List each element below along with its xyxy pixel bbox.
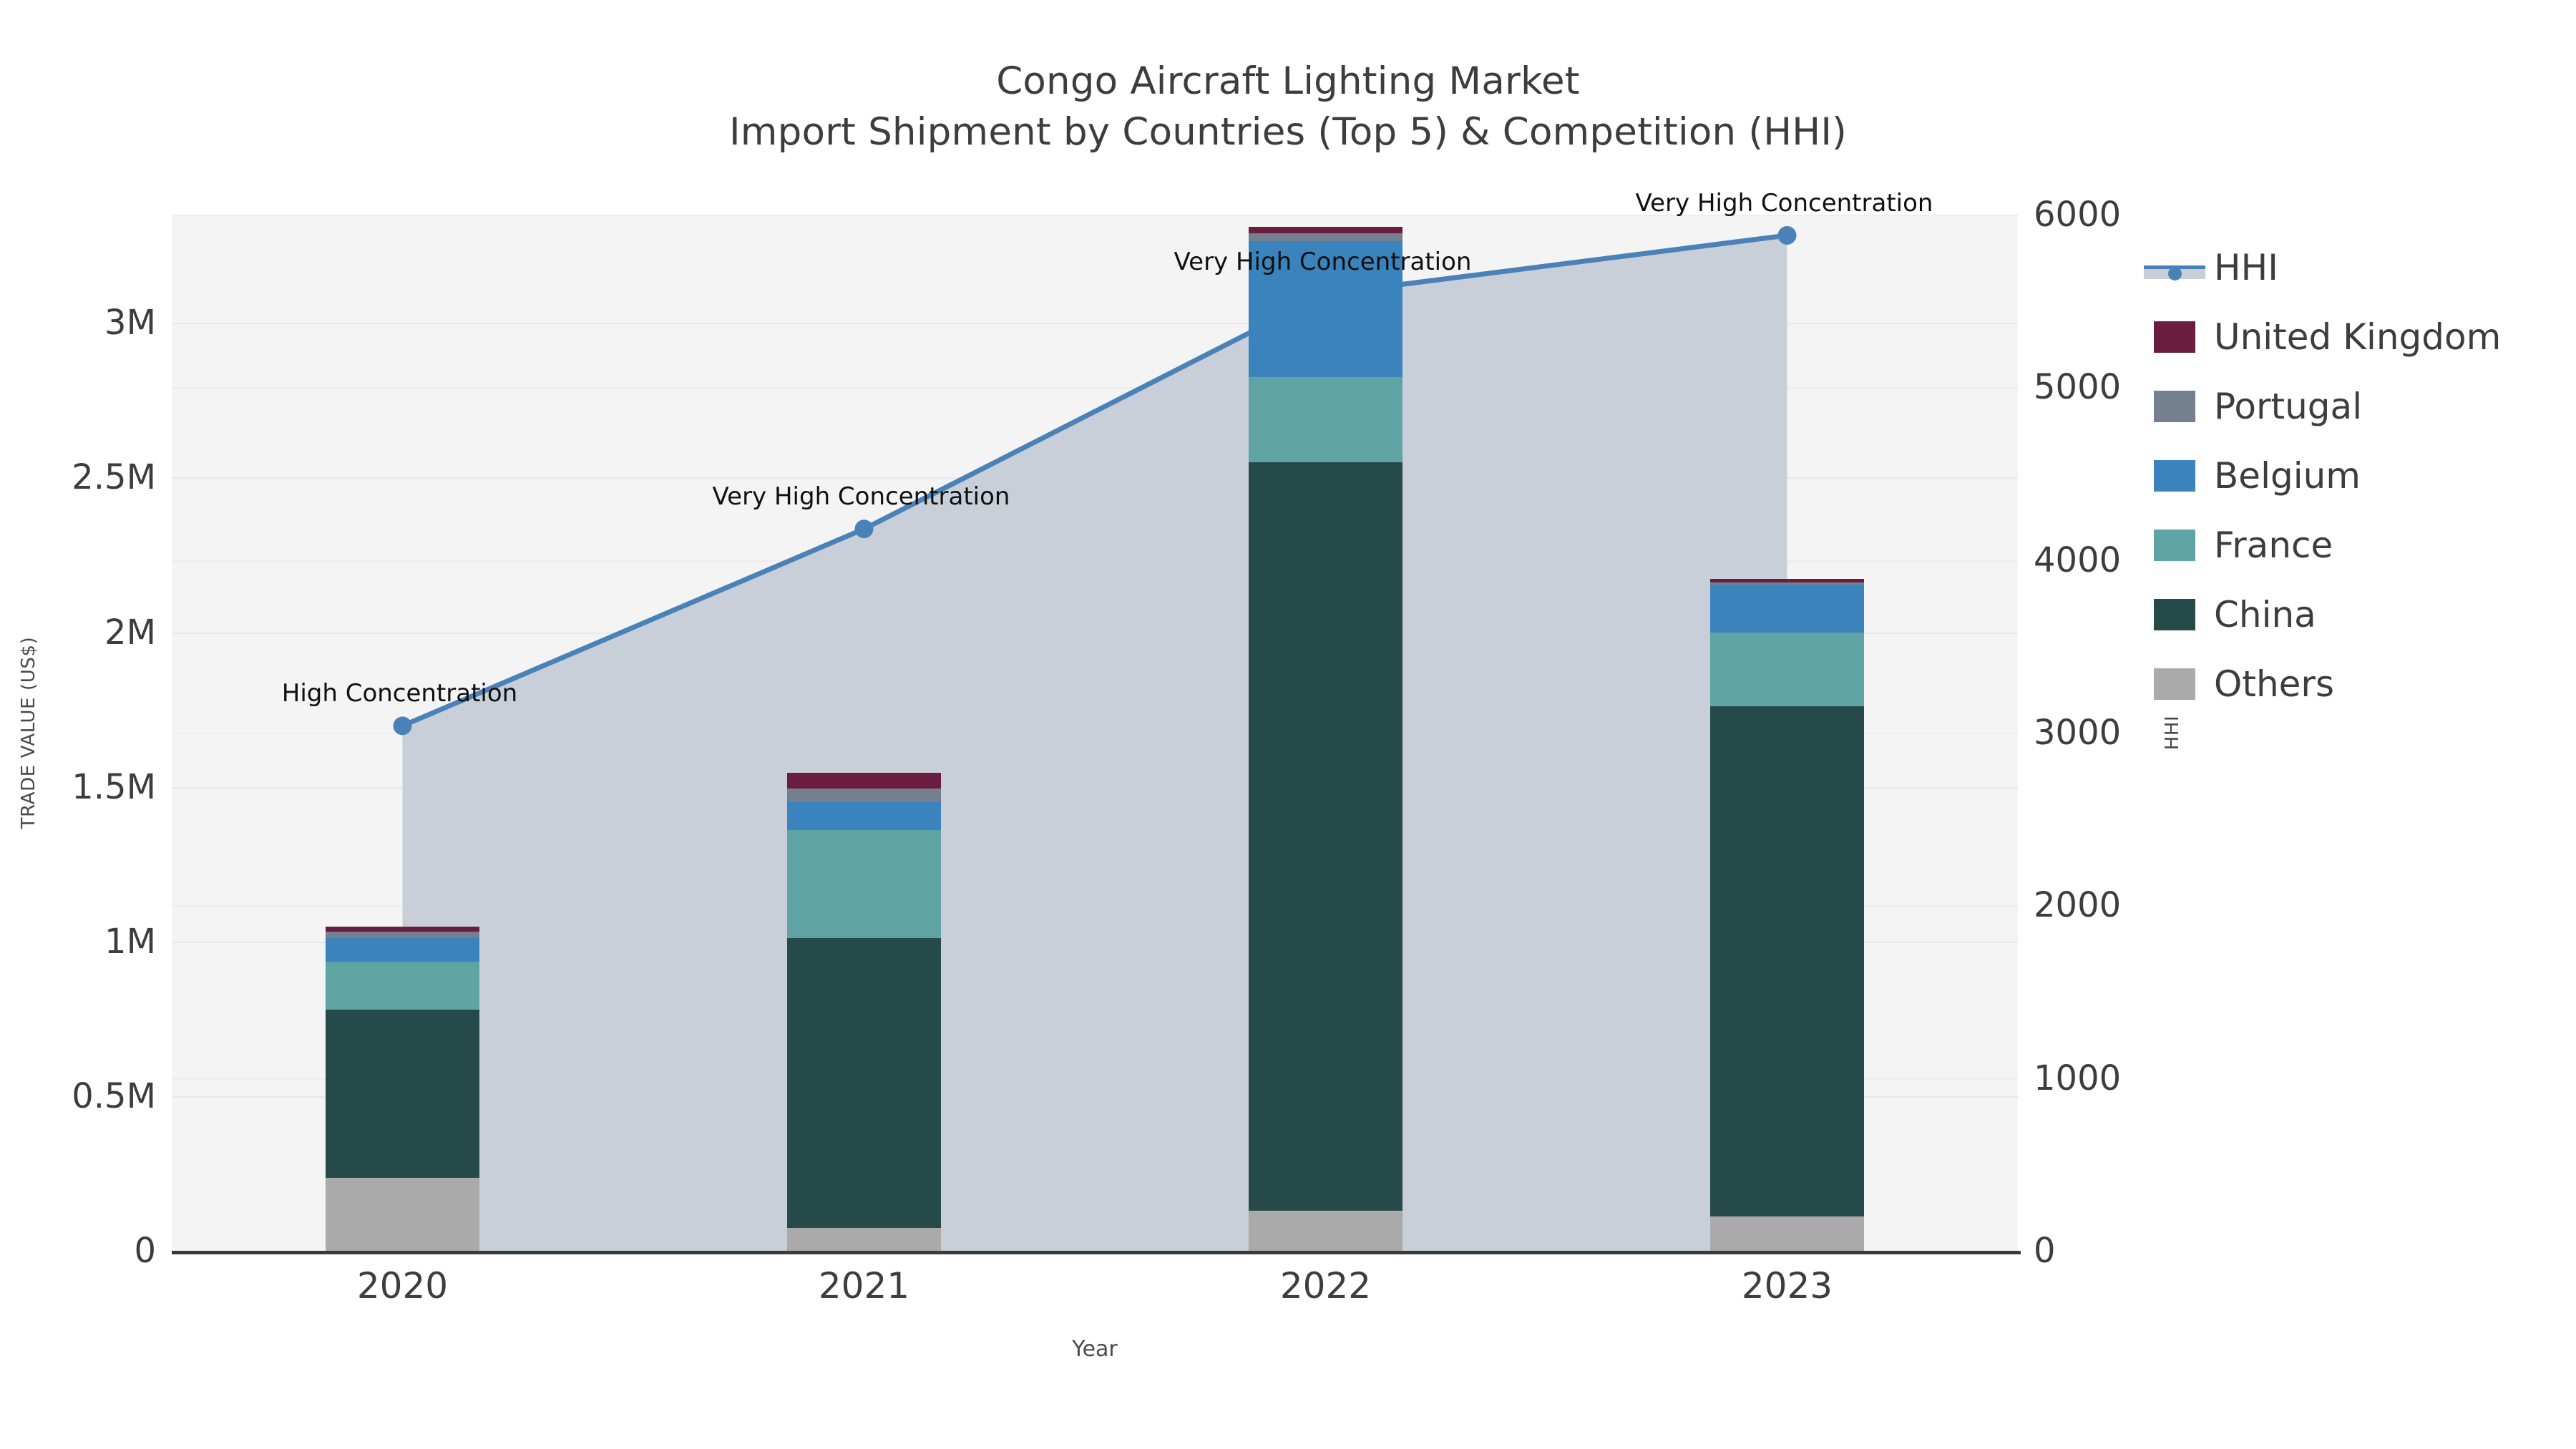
y-tick-left-5: 2.5M: [72, 457, 156, 497]
bar-segment-2020-china[interactable]: [326, 1010, 479, 1179]
x-tick-2023: 2023: [1742, 1265, 1833, 1307]
bar-segment-2022-others[interactable]: [1249, 1211, 1402, 1251]
y-tick-right-5: 5000: [2034, 367, 2121, 407]
plot-inner: [172, 215, 2018, 1251]
y-tick-left-2: 1M: [104, 922, 156, 962]
x-tick-2020: 2020: [357, 1265, 448, 1307]
title-line-2: Import Shipment by Countries (Top 5) & C…: [0, 107, 2576, 157]
y-tick-left-6: 3M: [104, 303, 156, 343]
bar-2021[interactable]: [787, 773, 941, 1251]
legend-item-china[interactable]: China: [2154, 580, 2576, 649]
annotation-2022: Very High Concentration: [1174, 248, 1472, 276]
chart-container: Congo Aircraft Lighting Market Import Sh…: [0, 0, 2576, 1449]
title-line-1: Congo Aircraft Lighting Market: [0, 56, 2576, 107]
y-tick-right-3: 3000: [2034, 713, 2121, 753]
legend-swatch-france: [2154, 530, 2195, 561]
bar-2022[interactable]: [1249, 227, 1402, 1251]
legend-label: France: [2214, 525, 2333, 566]
legend-item-united-kingdom[interactable]: United Kingdom: [2154, 302, 2576, 371]
legend-item-france[interactable]: France: [2154, 510, 2576, 580]
hhi-markers: [394, 226, 1797, 735]
legend-label: Portugal: [2214, 386, 2362, 427]
x-tick-2022: 2022: [1280, 1265, 1371, 1307]
bar-segment-2022-portugal[interactable]: [1249, 233, 1402, 241]
bar-segment-2020-others[interactable]: [326, 1178, 479, 1251]
bar-segment-2023-belgium[interactable]: [1710, 585, 1864, 633]
y-tick-left-1: 0.5M: [72, 1076, 156, 1116]
legend-label: China: [2214, 594, 2316, 635]
gridline-left-5: [172, 477, 2018, 479]
x-axis-label: Year: [1072, 1337, 1118, 1362]
y-tick-right-4: 4000: [2034, 540, 2121, 580]
bar-segment-2023-china[interactable]: [1710, 706, 1864, 1216]
bar-segment-2023-united-kingdom[interactable]: [1710, 579, 1864, 582]
y-tick-left-3: 1.5M: [72, 767, 156, 807]
bar-segment-2021-portugal[interactable]: [787, 789, 941, 802]
bar-segment-2021-united-kingdom[interactable]: [787, 773, 941, 789]
x-tick-2021: 2021: [819, 1265, 909, 1307]
bar-2023[interactable]: [1710, 579, 1864, 1251]
y-tick-right-1: 1000: [2034, 1058, 2121, 1098]
bar-segment-2023-france[interactable]: [1710, 633, 1864, 707]
legend-swatch-portugal: [2154, 391, 2195, 422]
y-axis-left-label: TRADE VALUE (US$): [18, 637, 39, 829]
legend-swatch-china: [2154, 599, 2195, 630]
bar-segment-2021-france[interactable]: [787, 830, 941, 938]
bar-segment-2023-others[interactable]: [1710, 1216, 1864, 1251]
legend-label: HHI: [2214, 247, 2278, 288]
annotation-2020: High Concentration: [282, 679, 517, 708]
y-axis-right-label: HHI: [2162, 716, 2183, 751]
bar-segment-2020-united-kingdom[interactable]: [326, 927, 479, 931]
y-tick-left-0: 0: [134, 1231, 156, 1271]
legend-item-portugal[interactable]: Portugal: [2154, 371, 2576, 441]
legend-label: Others: [2214, 663, 2334, 705]
gridline-right-5: [172, 387, 2018, 389]
chart-title: Congo Aircraft Lighting Market Import Sh…: [0, 56, 2576, 157]
legend-line-dot: [2168, 267, 2182, 280]
bar-segment-2022-china[interactable]: [1249, 462, 1402, 1211]
bar-segment-2020-belgium[interactable]: [326, 938, 479, 961]
legend-swatch-belgium: [2154, 460, 2195, 492]
bar-2020[interactable]: [326, 927, 479, 1251]
y-tick-right-2: 2000: [2034, 885, 2121, 925]
bar-segment-2021-belgium[interactable]: [787, 802, 941, 830]
y-tick-left-4: 2M: [104, 613, 156, 653]
bar-segment-2021-china[interactable]: [787, 938, 941, 1227]
annotation-2023: Very High Concentration: [1636, 189, 1933, 218]
gridline-left-6: [172, 323, 2018, 324]
legend-item-belgium[interactable]: Belgium: [2154, 441, 2576, 510]
legend-swatch-others: [2154, 668, 2195, 700]
annotation-2021: Very High Concentration: [713, 482, 1010, 511]
hhi-marker-2021: [855, 519, 874, 538]
bar-segment-2022-united-kingdom[interactable]: [1249, 227, 1402, 233]
legend-item-others[interactable]: Others: [2154, 649, 2576, 718]
plot-area: [172, 215, 2018, 1251]
bar-segment-2020-france[interactable]: [326, 962, 479, 1010]
legend-label: United Kingdom: [2214, 316, 2501, 358]
gridline-right-4: [172, 560, 2018, 562]
legend-item-hhi[interactable]: HHI: [2154, 233, 2576, 302]
bar-segment-2020-portugal[interactable]: [326, 932, 479, 939]
legend-label: Belgium: [2214, 455, 2361, 497]
legend-swatch-united-kingdom: [2154, 321, 2195, 353]
y-tick-right-6: 6000: [2034, 195, 2121, 235]
bar-segment-2021-others[interactable]: [787, 1228, 941, 1251]
chart-legend: HHIUnited KingdomPortugalBelgiumFranceCh…: [2154, 233, 2576, 718]
hhi-line-path: [403, 235, 1787, 726]
y-tick-right-0: 0: [2034, 1231, 2056, 1271]
hhi-marker-2023: [1778, 226, 1797, 245]
legend-line-icon: [2154, 252, 2195, 283]
x-axis-line: [172, 1251, 2021, 1254]
bar-segment-2023-portugal[interactable]: [1710, 582, 1864, 584]
bar-segment-2022-france[interactable]: [1249, 377, 1402, 462]
